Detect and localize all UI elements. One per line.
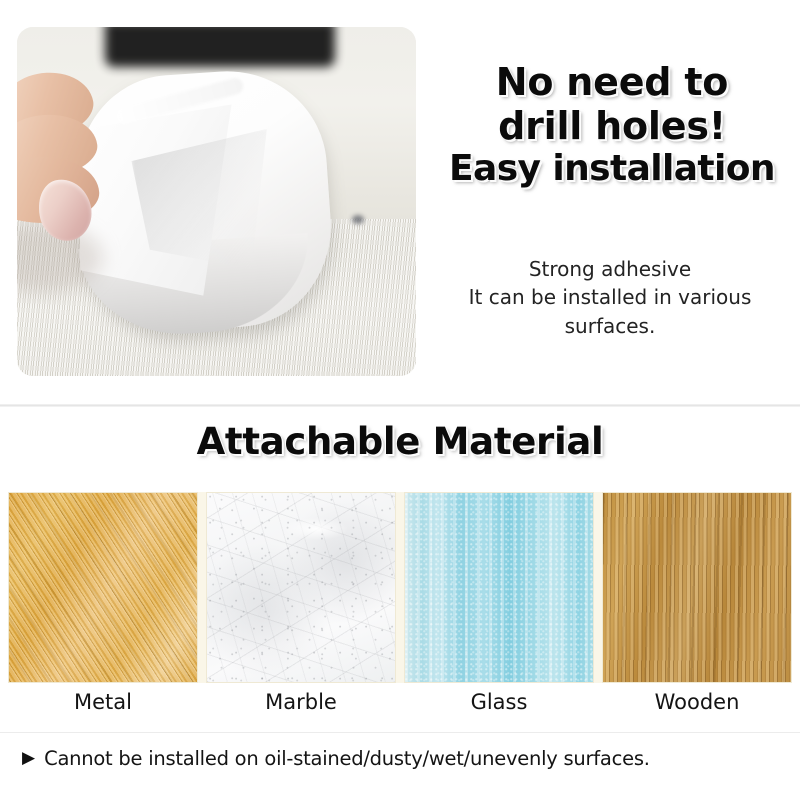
note-divider (0, 732, 800, 733)
headline-line-1: No need to (424, 60, 800, 104)
subhead-line-2: It can be installed in various (420, 283, 800, 311)
subheadline: Strong adhesive It can be installed in v… (420, 255, 800, 340)
triangle-bullet-icon: ▶ (22, 750, 35, 767)
material-label-marble: Marble (206, 690, 396, 714)
photo-speck (352, 215, 364, 224)
material-label-row: Metal Marble Glass Wooden (8, 690, 792, 714)
section-title: Attachable Material (0, 420, 800, 463)
headline: No need to drill holes! Easy installatio… (424, 60, 800, 190)
product-feature-page: No need to drill holes! Easy installatio… (0, 0, 800, 800)
material-label-metal: Metal (8, 690, 198, 714)
warning-note-text: Cannot be installed on oil-stained/dusty… (44, 747, 650, 770)
peel-adhesive-pad-photo (17, 27, 416, 376)
headline-line-3: Easy installation (424, 148, 800, 190)
installation-section: No need to drill holes! Easy installatio… (0, 0, 800, 406)
material-swatch-marble (206, 492, 396, 683)
material-swatch-metal (8, 492, 198, 683)
material-swatch-glass (404, 492, 594, 683)
headline-line-2: drill holes! (424, 104, 800, 148)
subhead-line-1: Strong adhesive (420, 255, 800, 283)
material-swatch-wooden (602, 492, 792, 683)
subhead-line-3: surfaces. (420, 312, 800, 340)
hand (17, 73, 123, 263)
material-label-glass: Glass (404, 690, 594, 714)
photo-dark-object (105, 27, 335, 67)
warning-note: ▶ Cannot be installed on oil-stained/dus… (22, 747, 782, 770)
material-label-wooden: Wooden (602, 690, 792, 714)
attachable-material-section: Attachable Material Metal Marble Glass W… (0, 407, 800, 800)
material-swatch-row (8, 492, 792, 683)
